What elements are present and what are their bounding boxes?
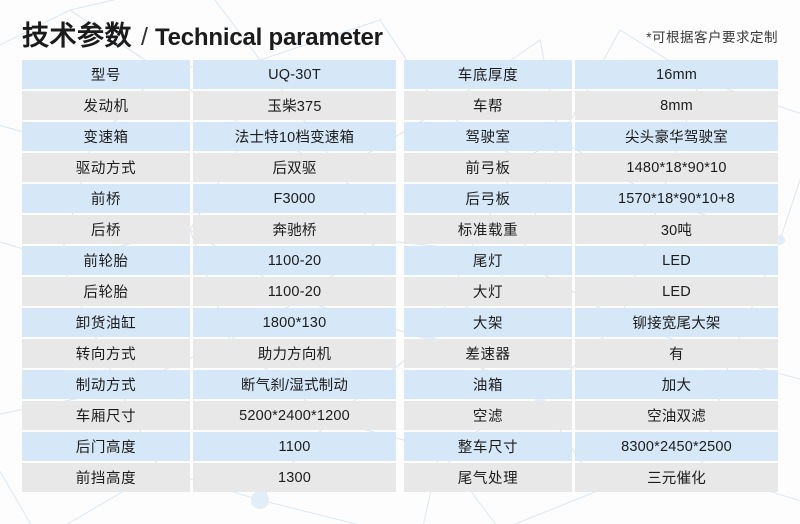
spec-value: 1570*18*90*10+8 bbox=[575, 184, 778, 213]
spec-row: 整车尺寸8300*2450*2500 bbox=[404, 432, 778, 461]
spec-row: 车帮8mm bbox=[404, 91, 778, 120]
spec-label: 后桥 bbox=[22, 215, 190, 244]
spec-value: 铆接宽尾大架 bbox=[575, 308, 778, 337]
spec-label: 空滤 bbox=[404, 401, 572, 430]
spec-row: 后门高度1100 bbox=[22, 432, 396, 461]
spec-value: 30吨 bbox=[575, 215, 778, 244]
spec-row: 前桥F3000 bbox=[22, 184, 396, 213]
page-title-english: Technical parameter bbox=[155, 24, 383, 52]
spec-value: 玉柴375 bbox=[193, 91, 396, 120]
spec-tables-container: 型号UQ-30T发动机玉柴375变速箱法士特10档变速箱驱动方式后双驱前桥F30… bbox=[22, 60, 778, 492]
spec-label: 前桥 bbox=[22, 184, 190, 213]
spec-label: 车厢尺寸 bbox=[22, 401, 190, 430]
spec-row: 后轮胎1100-20 bbox=[22, 277, 396, 306]
spec-value: 1480*18*90*10 bbox=[575, 153, 778, 182]
spec-row: 车厢尺寸5200*2400*1200 bbox=[22, 401, 396, 430]
spec-value: LED bbox=[575, 246, 778, 275]
spec-row: 前轮胎1100-20 bbox=[22, 246, 396, 275]
spec-label: 驱动方式 bbox=[22, 153, 190, 182]
spec-label: 油箱 bbox=[404, 370, 572, 399]
spec-label: 大灯 bbox=[404, 277, 572, 306]
spec-label: 转向方式 bbox=[22, 339, 190, 368]
spec-label: 制动方式 bbox=[22, 370, 190, 399]
spec-value: 奔驰桥 bbox=[193, 215, 396, 244]
spec-label: 发动机 bbox=[22, 91, 190, 120]
spec-value: 尖头豪华驾驶室 bbox=[575, 122, 778, 151]
customization-note: *可根据客户要求定制 bbox=[646, 26, 778, 46]
spec-label: 整车尺寸 bbox=[404, 432, 572, 461]
spec-value: LED bbox=[575, 277, 778, 306]
spec-value: 三元催化 bbox=[575, 463, 778, 492]
spec-row: 转向方式助力方向机 bbox=[22, 339, 396, 368]
spec-label: 车底厚度 bbox=[404, 60, 572, 89]
spec-row: 大灯LED bbox=[404, 277, 778, 306]
spec-value: 助力方向机 bbox=[193, 339, 396, 368]
spec-label: 前挡高度 bbox=[22, 463, 190, 492]
spec-value: 断气刹/湿式制动 bbox=[193, 370, 396, 399]
spec-table-left: 型号UQ-30T发动机玉柴375变速箱法士特10档变速箱驱动方式后双驱前桥F30… bbox=[22, 60, 396, 492]
page-header: 技术参数 / Technical parameter *可根据客户要求定制 bbox=[0, 0, 800, 60]
page-title-separator: / bbox=[141, 23, 148, 52]
spec-row: 卸货油缸1800*130 bbox=[22, 308, 396, 337]
spec-label: 尾气处理 bbox=[404, 463, 572, 492]
spec-value: 加大 bbox=[575, 370, 778, 399]
spec-label: 大架 bbox=[404, 308, 572, 337]
spec-label: 变速箱 bbox=[22, 122, 190, 151]
spec-label: 标准载重 bbox=[404, 215, 572, 244]
spec-label: 驾驶室 bbox=[404, 122, 572, 151]
spec-row: 后弓板1570*18*90*10+8 bbox=[404, 184, 778, 213]
spec-row: 驱动方式后双驱 bbox=[22, 153, 396, 182]
spec-value: 空油双滤 bbox=[575, 401, 778, 430]
spec-row: 大架铆接宽尾大架 bbox=[404, 308, 778, 337]
spec-table-right: 车底厚度16mm车帮8mm驾驶室尖头豪华驾驶室前弓板1480*18*90*10后… bbox=[404, 60, 778, 492]
spec-row: 差速器有 bbox=[404, 339, 778, 368]
spec-label: 前弓板 bbox=[404, 153, 572, 182]
spec-row: 发动机玉柴375 bbox=[22, 91, 396, 120]
spec-label: 前轮胎 bbox=[22, 246, 190, 275]
spec-label: 后弓板 bbox=[404, 184, 572, 213]
spec-row: 尾灯LED bbox=[404, 246, 778, 275]
spec-label: 后门高度 bbox=[22, 432, 190, 461]
spec-value: UQ-30T bbox=[193, 60, 396, 89]
page-title: 技术参数 / Technical parameter bbox=[22, 14, 383, 53]
spec-label: 卸货油缸 bbox=[22, 308, 190, 337]
spec-label: 差速器 bbox=[404, 339, 572, 368]
spec-row: 前弓板1480*18*90*10 bbox=[404, 153, 778, 182]
spec-value: 8mm bbox=[575, 91, 778, 120]
spec-value: 1100 bbox=[193, 432, 396, 461]
spec-label: 后轮胎 bbox=[22, 277, 190, 306]
spec-row: 变速箱法士特10档变速箱 bbox=[22, 122, 396, 151]
spec-value: 1100-20 bbox=[193, 277, 396, 306]
spec-row: 制动方式断气刹/湿式制动 bbox=[22, 370, 396, 399]
spec-value: 8300*2450*2500 bbox=[575, 432, 778, 461]
spec-sheet-page: 技术参数 / Technical parameter *可根据客户要求定制 型号… bbox=[0, 0, 800, 524]
spec-value: 1100-20 bbox=[193, 246, 396, 275]
spec-label: 尾灯 bbox=[404, 246, 572, 275]
spec-value: 1800*130 bbox=[193, 308, 396, 337]
spec-row: 空滤空油双滤 bbox=[404, 401, 778, 430]
spec-value: 法士特10档变速箱 bbox=[193, 122, 396, 151]
spec-value: 1300 bbox=[193, 463, 396, 492]
spec-row: 后桥奔驰桥 bbox=[22, 215, 396, 244]
spec-row: 驾驶室尖头豪华驾驶室 bbox=[404, 122, 778, 151]
spec-value: 5200*2400*1200 bbox=[193, 401, 396, 430]
spec-row: 油箱加大 bbox=[404, 370, 778, 399]
spec-value: 16mm bbox=[575, 60, 778, 89]
spec-value: 有 bbox=[575, 339, 778, 368]
spec-label: 型号 bbox=[22, 60, 190, 89]
page-title-chinese: 技术参数 bbox=[22, 14, 132, 53]
spec-value: 后双驱 bbox=[193, 153, 396, 182]
spec-row: 尾气处理三元催化 bbox=[404, 463, 778, 492]
spec-row: 前挡高度1300 bbox=[22, 463, 396, 492]
spec-row: 车底厚度16mm bbox=[404, 60, 778, 89]
spec-row: 标准载重30吨 bbox=[404, 215, 778, 244]
spec-value: F3000 bbox=[193, 184, 396, 213]
spec-row: 型号UQ-30T bbox=[22, 60, 396, 89]
spec-label: 车帮 bbox=[404, 91, 572, 120]
